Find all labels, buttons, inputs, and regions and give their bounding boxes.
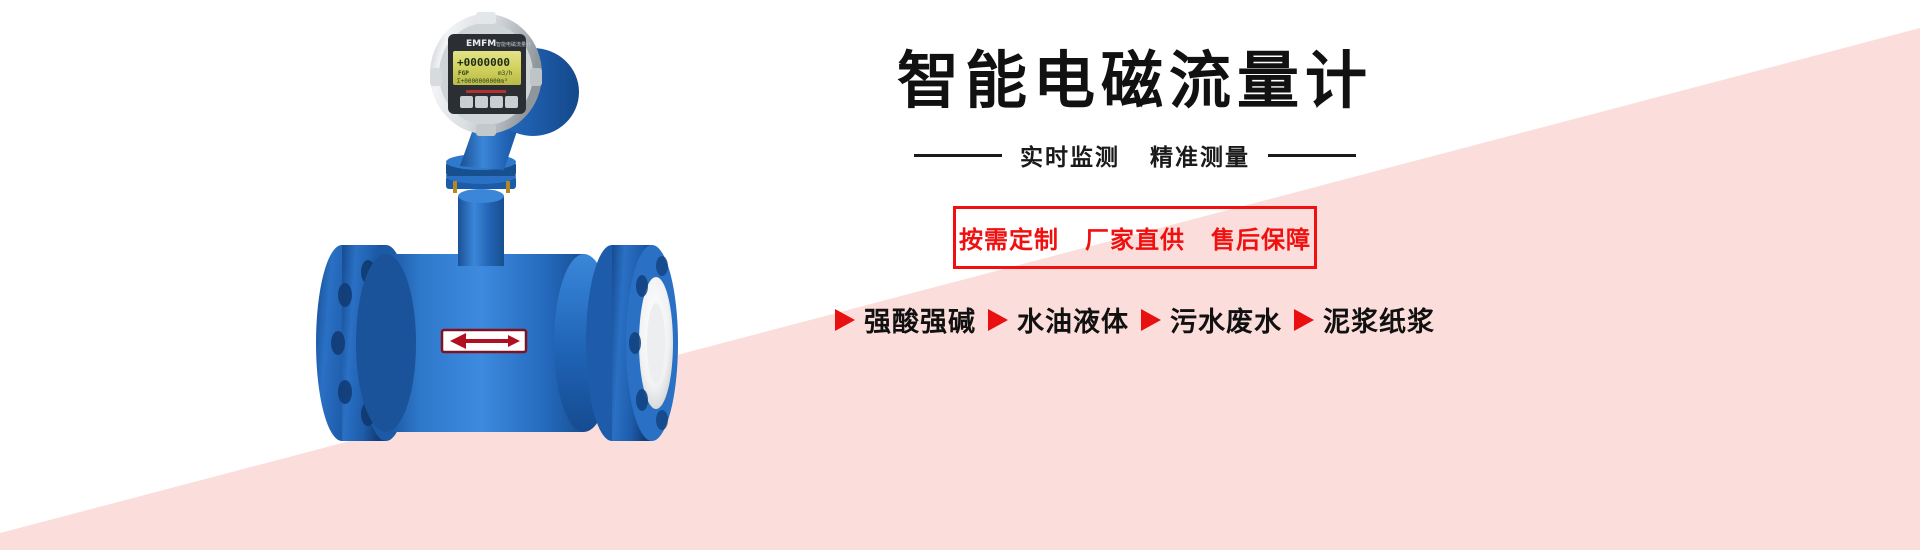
lcd-main-value: +0000000 <box>457 56 510 69</box>
device-brand-sub-text: 智能电磁流量计 <box>496 41 531 48</box>
promo-item-1: 按需定制 <box>959 220 1059 255</box>
feature-list: 强酸强碱 水油液体 污水废水 泥浆纸浆 <box>735 300 1535 339</box>
rule-right-decoration <box>1268 154 1356 157</box>
promo-item-2: 厂家直供 <box>1085 220 1185 255</box>
feature-label: 水油液体 <box>1017 300 1129 339</box>
feature-label: 污水废水 <box>1170 300 1282 339</box>
flowmeter-illustration: EMFM 智能电磁流量计 +0000000 FGP m3/h Σ+0000000… <box>290 0 710 500</box>
flow-direction-arrow-label <box>442 330 526 352</box>
page-title: 智能电磁流量计 <box>735 28 1535 112</box>
subtitle-words: 实时监测 精准测量 <box>1020 138 1250 172</box>
feature-item: 强酸强碱 <box>835 300 976 339</box>
triangle-right-icon <box>1141 309 1161 331</box>
rule-left-decoration <box>914 154 1002 157</box>
feature-label: 强酸强碱 <box>864 300 976 339</box>
feature-label: 泥浆纸浆 <box>1323 300 1435 339</box>
triangle-right-icon <box>835 309 855 331</box>
promo-item-3: 售后保障 <box>1211 220 1311 255</box>
feature-item: 污水废水 <box>1141 300 1282 339</box>
subtitle-word-2: 精准测量 <box>1150 138 1250 172</box>
feature-item: 水油液体 <box>988 300 1129 339</box>
device-brand-text: EMFM <box>466 39 496 49</box>
lcd-row3: Σ+0000000000m³ <box>457 78 508 85</box>
converter-head: EMFM 智能电磁流量计 +0000000 FGP m3/h Σ+0000000… <box>430 12 579 136</box>
promotional-banner: EMFM 智能电磁流量计 +0000000 FGP m3/h Σ+0000000… <box>0 0 1920 550</box>
promo-box: 按需定制 厂家直供 售后保障 <box>953 206 1317 269</box>
subtitle-word-1: 实时监测 <box>1020 138 1120 172</box>
feature-item: 泥浆纸浆 <box>1294 300 1435 339</box>
right-flange <box>586 245 678 441</box>
flowmeter-graphic: EMFM 智能电磁流量计 +0000000 FGP m3/h Σ+0000000… <box>290 0 710 500</box>
copy-column: 智能电磁流量计 实时监测 精准测量 按需定制 厂家直供 售后保障 强酸强碱 水油… <box>735 28 1535 468</box>
triangle-right-icon <box>1294 309 1314 331</box>
lcd-row2-left: FGP <box>458 70 469 77</box>
lcd-row2-right: m3/h <box>498 70 513 77</box>
subtitle-row: 实时监测 精准测量 <box>735 138 1535 172</box>
triangle-right-icon <box>988 309 1008 331</box>
